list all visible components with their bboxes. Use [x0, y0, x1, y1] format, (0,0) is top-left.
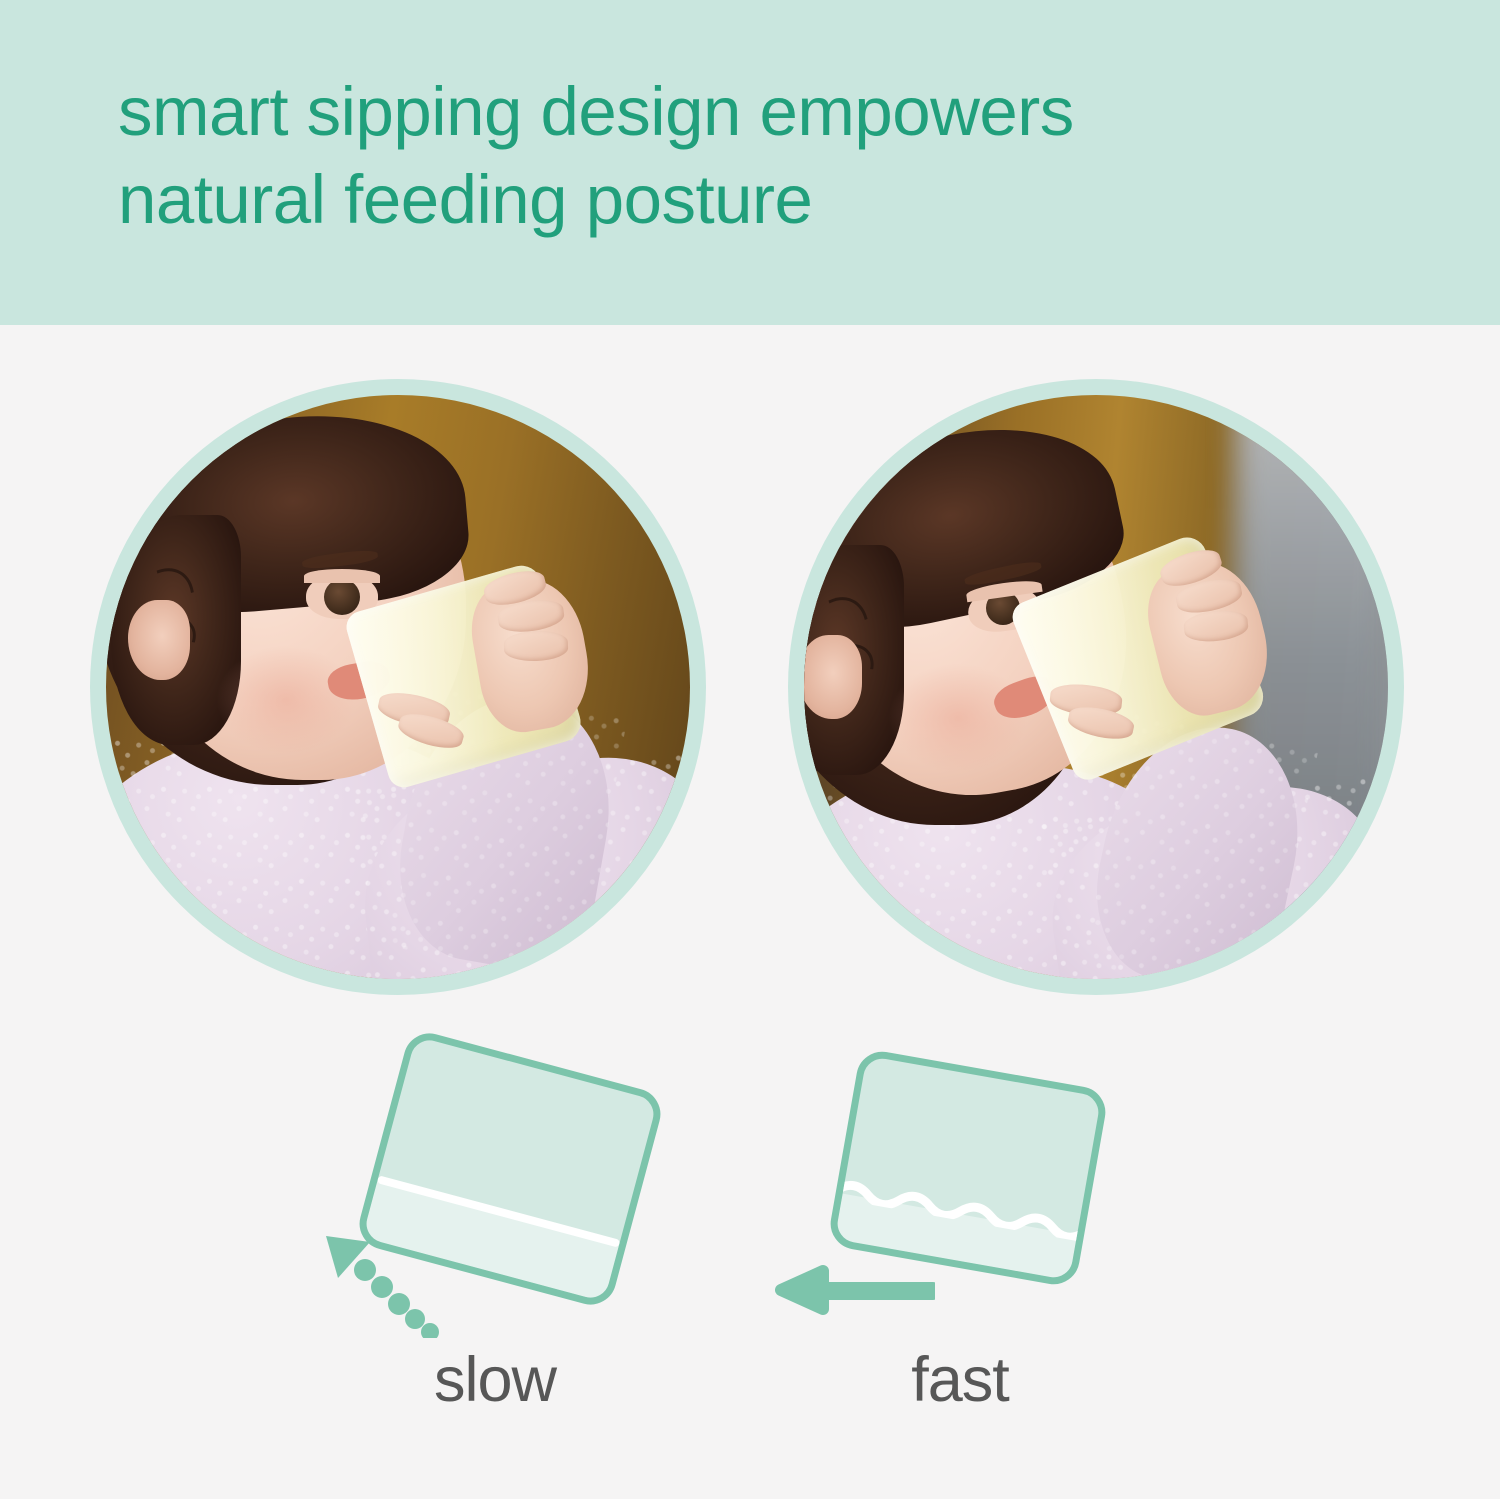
- label-slow: slow: [330, 1344, 660, 1416]
- header-band: smart sipping design empowers natural fe…: [0, 0, 1500, 325]
- photo-circle-fast: [788, 379, 1404, 995]
- photo-left-image: [106, 395, 690, 979]
- photo-circle-slow: [90, 379, 706, 995]
- solid-arrow-left-icon: [775, 1258, 935, 1322]
- photo-right-image: [804, 395, 1388, 979]
- page-headline: smart sipping design empowers natural fe…: [118, 68, 1418, 245]
- label-fast: fast: [795, 1344, 1125, 1416]
- dotted-arrow-up-left-icon: [322, 1228, 452, 1338]
- bottle-diagram-fast: [827, 1048, 1110, 1289]
